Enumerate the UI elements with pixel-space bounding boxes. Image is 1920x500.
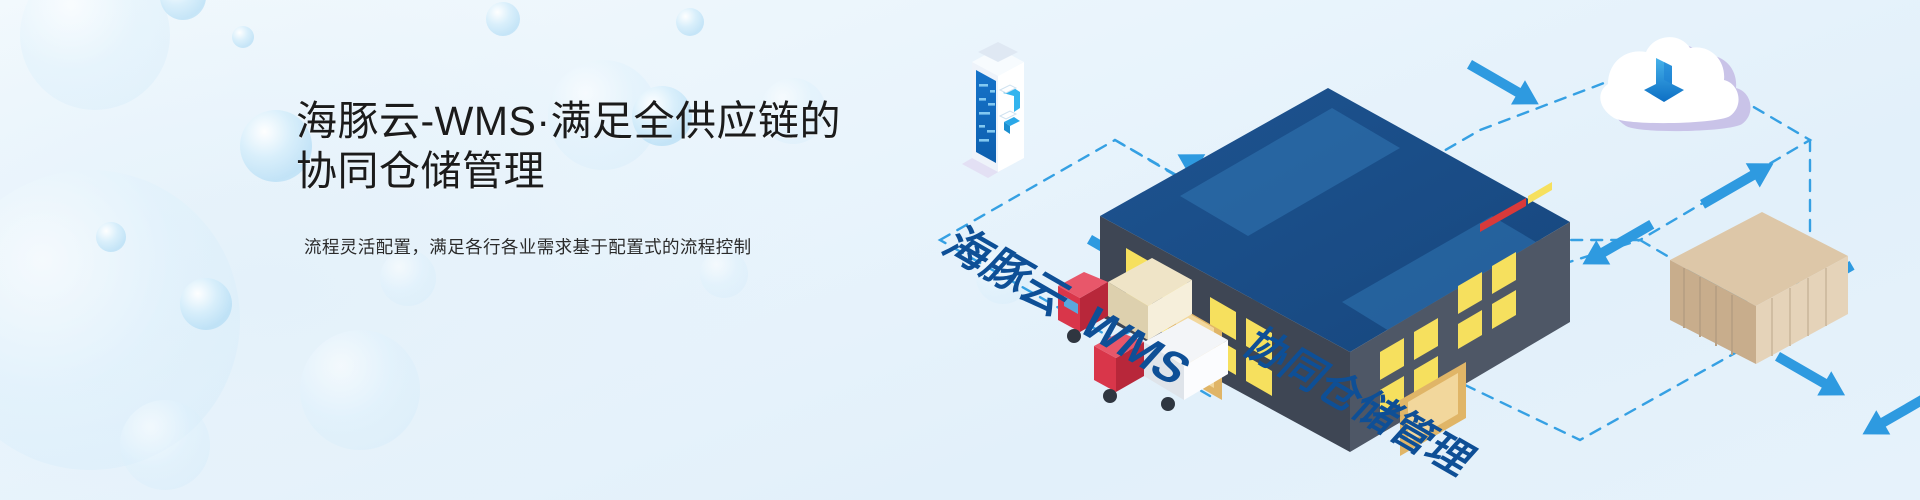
hero-copy: 海豚云-WMS·满足全供应链的 协同仓储管理 流程灵活配置，满足各行各业需求基于… (296, 96, 916, 260)
decor-bubble (232, 26, 254, 48)
decor-bubble (0, 170, 240, 470)
flow-arrow-icon (1771, 344, 1853, 407)
server-rack-icon (962, 42, 1024, 178)
decor-bubble (676, 8, 704, 36)
decor-bubble (20, 0, 170, 110)
decor-bubble (96, 222, 126, 252)
decor-bubble (486, 2, 520, 36)
shipping-container-icon (1670, 212, 1848, 364)
flow-arrow-icon (1856, 383, 1920, 446)
cloud-download-icon (1600, 37, 1750, 131)
decor-bubble (180, 278, 232, 330)
flow-arrow-icon (1463, 52, 1546, 116)
hero-banner: 海豚云-WMS·满足全供应链的 协同仓储管理 流程灵活配置，满足各行各业需求基于… (0, 0, 1920, 500)
hero-illustration: 海豚云 WMS 协同仓储管理 (880, 0, 1920, 500)
illustration-label-left: 海豚云 (933, 221, 1080, 324)
decor-bubble (160, 0, 206, 20)
page-title: 海豚云-WMS·满足全供应链的 协同仓储管理 (296, 96, 916, 196)
label-海豚云: 海豚云 (933, 221, 1080, 324)
decor-bubble (300, 330, 420, 450)
flow-arrow-icon (1696, 151, 1781, 216)
hero-subtitle: 流程灵活配置，满足各行各业需求基于配置式的流程控制 (304, 234, 916, 260)
decor-bubble (120, 400, 210, 490)
